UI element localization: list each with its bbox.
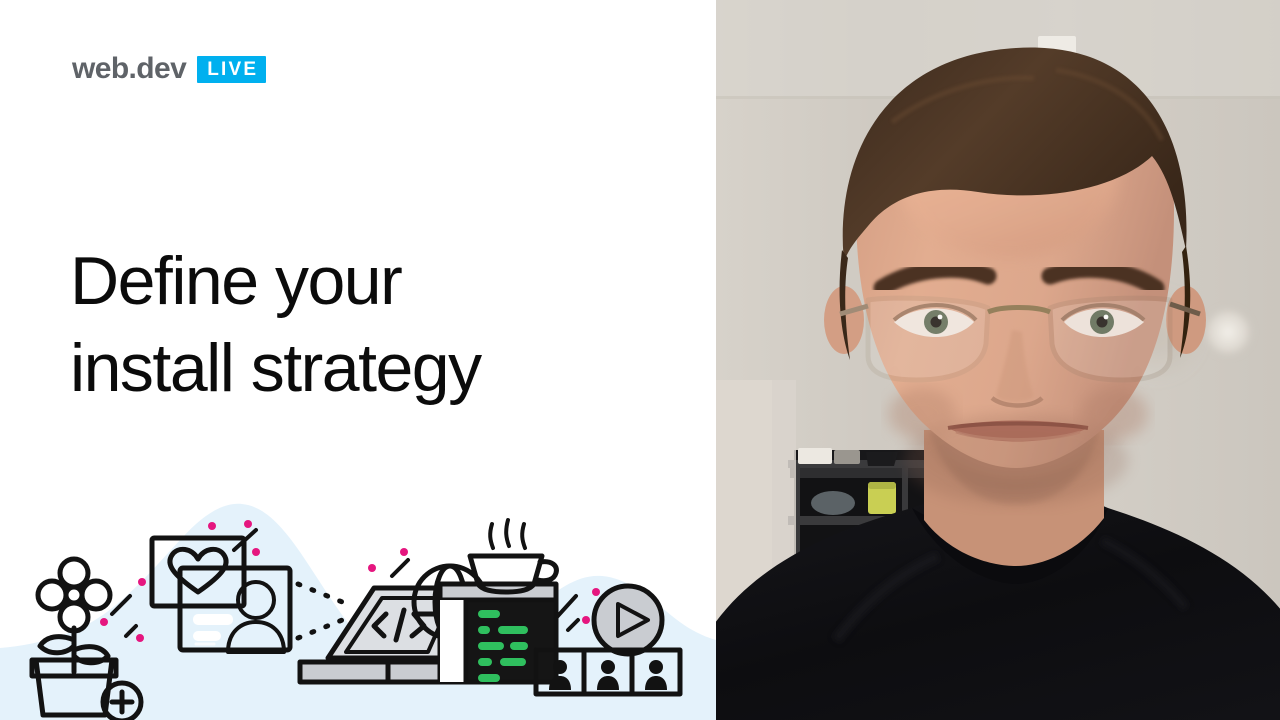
slide-title-line-2: install strategy [70, 325, 670, 413]
slide-title-line-1: Define your [70, 238, 670, 326]
heart-reaction-card [152, 538, 244, 606]
webcam-frame [716, 0, 1280, 720]
presentation-stage: web.dev LIVE Define your install strateg… [0, 0, 1280, 720]
coffee-cup-with-steam [470, 520, 556, 592]
terminal-window-with-code-lines [440, 584, 556, 682]
slide-illustration: .ink { stroke:#121212; stroke-width:5; s… [0, 510, 716, 720]
wall-lamp [1202, 306, 1254, 358]
shelf-item-dark-object [866, 452, 898, 466]
slide-panel: web.dev LIVE Define your install strateg… [0, 0, 716, 720]
shelf-item-gray-box [834, 450, 860, 464]
shelf-item-round-dish [811, 491, 855, 515]
webdev-live-logo: web.dev LIVE [72, 54, 266, 84]
slide-title: Define your install strategy [70, 238, 670, 413]
potted-flower-with-add-badge [32, 559, 141, 720]
video-call-avatar-tile [180, 568, 290, 652]
shelf-item-white-box [798, 448, 832, 464]
play-button-circle [594, 586, 662, 654]
live-badge: LIVE [197, 56, 266, 83]
jaw-shadow-left [888, 388, 956, 440]
webcam-video-feed [716, 0, 1280, 720]
jaw-shadow-right [1080, 388, 1148, 440]
confetti-dots-and-dashes-laptop [368, 548, 408, 576]
webdev-wordmark: web.dev [72, 54, 186, 84]
